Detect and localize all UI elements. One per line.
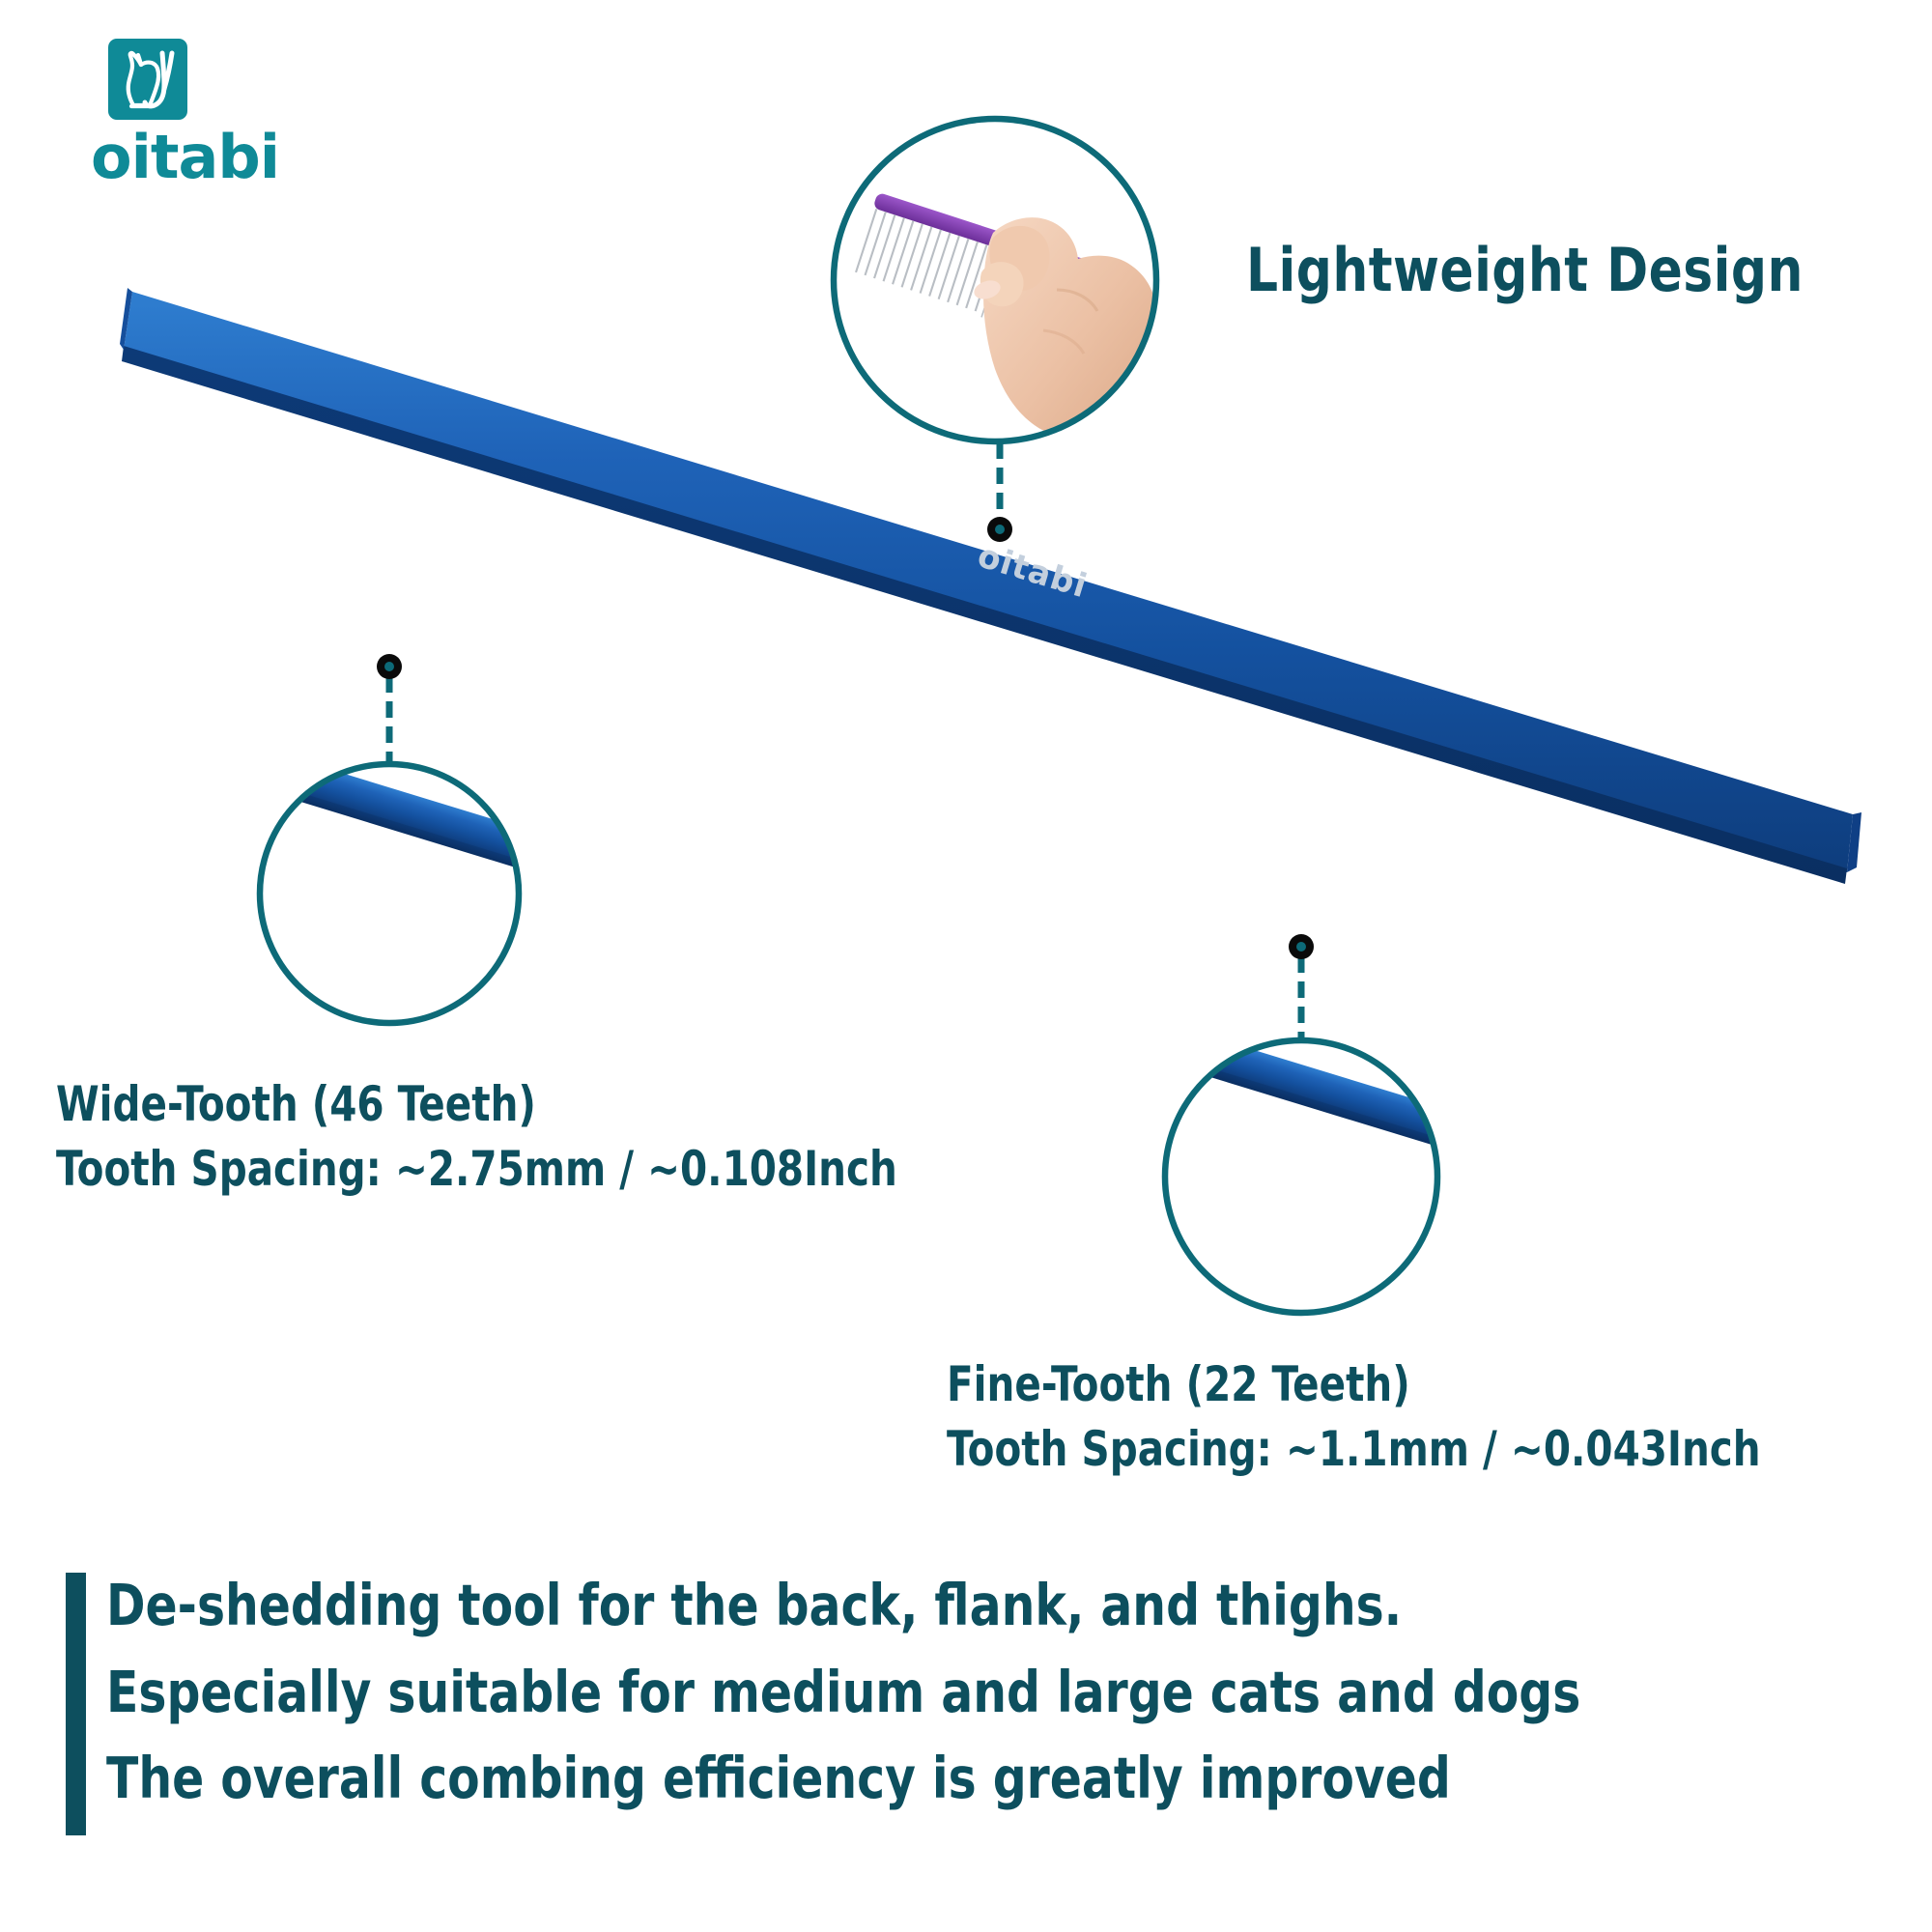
wide-tooth-callout: Wide-Tooth (46 Teeth) Tooth Spacing: ~2.… (56, 1072, 897, 1201)
accent-bar (66, 1573, 86, 1835)
lightweight-hand-zoom (831, 114, 1163, 446)
benefits-text: De-shedding tool for the back, flank, an… (106, 1562, 1580, 1822)
wide-tooth-spacing: Tooth Spacing: ~2.75mm / ~0.108Inch (56, 1137, 897, 1202)
fine-tooth-zoom (1118, 1025, 1481, 1364)
wide-tooth-title: Wide-Tooth (46 Teeth) (56, 1072, 897, 1137)
fine-tooth-title: Fine-Tooth (22 Teeth) (947, 1352, 1761, 1417)
benefit-line-1: De-shedding tool for the back, flank, an… (106, 1562, 1580, 1649)
fine-tooth-spacing: Tooth Spacing: ~1.1mm / ~0.043Inch (947, 1417, 1761, 1482)
infographic-canvas: oitabi (0, 0, 1932, 1932)
page-title: Lightweight Design (1246, 235, 1804, 305)
fine-tooth-callout: Fine-Tooth (22 Teeth) Tooth Spacing: ~1.… (947, 1352, 1761, 1481)
benefit-line-3: The overall combing efficiency is greatl… (106, 1735, 1580, 1822)
wide-tooth-zoom (221, 749, 564, 1049)
benefit-line-2: Especially suitable for medium and large… (106, 1649, 1580, 1736)
